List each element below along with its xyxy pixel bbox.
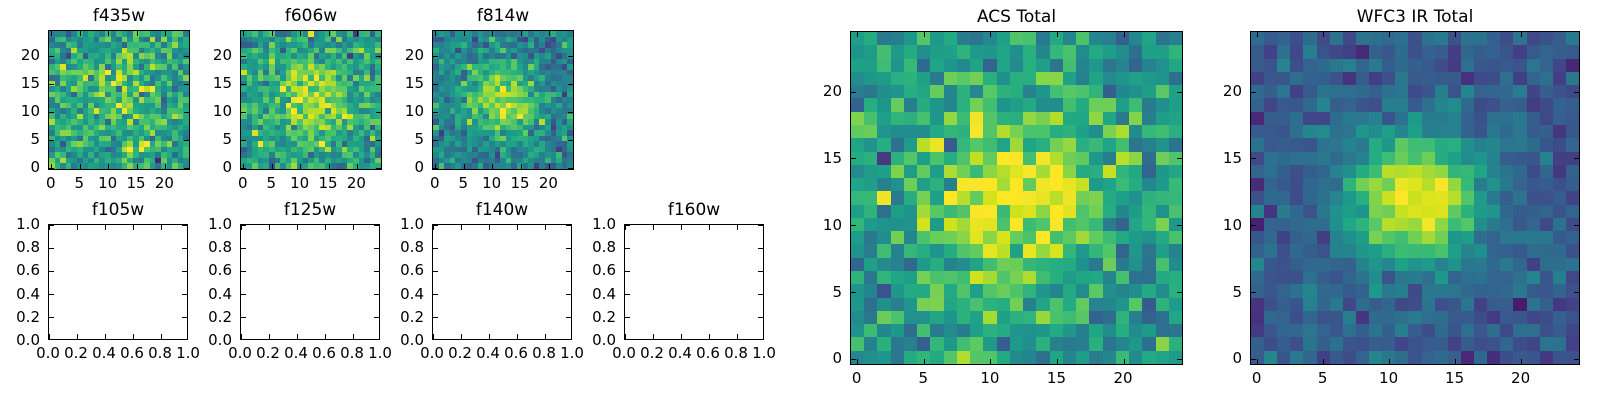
heatmap-cell: [877, 337, 890, 350]
heatmap-cell: [1076, 85, 1089, 98]
heatmap-cell: [1448, 298, 1461, 311]
heatmap-cell: [1500, 244, 1513, 257]
heatmap-cell: [997, 311, 1010, 324]
heatmap-cell: [1527, 311, 1540, 324]
heatmap-cell: [944, 351, 957, 364]
heatmap-cell: [864, 205, 877, 218]
heatmap-cell: [891, 72, 904, 85]
y-tick-label: 5: [30, 130, 40, 148]
axes-f125w[interactable]: [240, 224, 380, 340]
heatmap-cell: [1382, 165, 1395, 178]
heatmap-cell: [1050, 337, 1063, 350]
heatmap-cell: [1422, 178, 1435, 191]
heatmap-cell: [1251, 284, 1264, 297]
heatmap-cell: [1142, 298, 1155, 311]
heatmap-cell: [1063, 244, 1076, 257]
heatmap-cell: [1330, 337, 1343, 350]
heatmap-cell: [1461, 284, 1474, 297]
heatmap-cell: [1290, 191, 1303, 204]
heatmap-cell: [1169, 284, 1182, 297]
heatmap-cell: [1290, 205, 1303, 218]
heatmap-cell: [1277, 351, 1290, 364]
axes-wfc3-ir-total[interactable]: [1250, 31, 1580, 365]
heatmap-cell: [864, 284, 877, 297]
heatmap-cell: [1435, 258, 1448, 271]
heatmap-cell: [1395, 218, 1408, 231]
heatmap-cell: [1500, 138, 1513, 151]
heatmap-cell: [1500, 98, 1513, 111]
axes-acs-total[interactable]: [850, 31, 1183, 365]
heatmap-cell: [1063, 152, 1076, 165]
heatmap-cell: [1356, 152, 1369, 165]
x-tick-label: 0.4: [284, 344, 308, 362]
heatmap-cell: [1435, 351, 1448, 364]
heatmap-cell: [1382, 191, 1395, 204]
heatmap-cell: [1129, 138, 1142, 151]
heatmap-cell: [917, 324, 930, 337]
heatmap-cell: [1169, 138, 1182, 151]
heatmap-cell: [1422, 72, 1435, 85]
heatmap-cell: [1435, 324, 1448, 337]
y-tick: [625, 317, 630, 318]
heatmap-cell: [1461, 152, 1474, 165]
heatmap-cell: [1435, 271, 1448, 284]
heatmap-cell: [917, 284, 930, 297]
heatmap-cell: [1036, 152, 1049, 165]
heatmap-cell: [1343, 112, 1356, 125]
axes-f435w[interactable]: [48, 30, 190, 170]
heatmap-cell: [1356, 351, 1369, 364]
heatmap-cell: [1553, 205, 1566, 218]
y-tick: [851, 225, 856, 226]
heatmap-cell: [983, 178, 996, 191]
heatmap-cell: [877, 324, 890, 337]
heatmap-cell: [1395, 271, 1408, 284]
heatmap-cell: [917, 85, 930, 98]
heatmap-cell: [1023, 85, 1036, 98]
heatmap-cell: [1036, 205, 1049, 218]
x-tick: [545, 225, 546, 230]
heatmap-cell: [1050, 45, 1063, 58]
heatmap-cell: [1089, 138, 1102, 151]
heatmap-cell: [1050, 324, 1063, 337]
heatmap-cell: [930, 311, 943, 324]
heatmap-cell: [1277, 231, 1290, 244]
y-tick-label: 1.0: [400, 215, 424, 233]
heatmap-cell: [864, 85, 877, 98]
heatmap-cell: [983, 311, 996, 324]
y-tick: [625, 294, 630, 295]
heatmap-cell: [917, 258, 930, 271]
heatmap-cell: [1422, 59, 1435, 72]
heatmap-cell: [917, 205, 930, 218]
heatmap-cell: [1461, 112, 1474, 125]
x-tick: [80, 164, 81, 169]
heatmap-cell: [1422, 32, 1435, 45]
heatmap-cell: [1422, 152, 1435, 165]
heatmap-cell: [1023, 98, 1036, 111]
heatmap-cell: [1395, 311, 1408, 324]
heatmap-cell: [1023, 324, 1036, 337]
heatmap-cell: [1356, 298, 1369, 311]
y-tick: [182, 225, 187, 226]
heatmap-cell: [1382, 138, 1395, 151]
heatmap-cell: [944, 298, 957, 311]
heatmap-cell: [851, 98, 864, 111]
x-tick: [300, 31, 301, 36]
heatmap-cell: [944, 59, 957, 72]
heatmap-cell: [1461, 178, 1474, 191]
heatmap-cell: [997, 218, 1010, 231]
heatmap-cell: [1023, 32, 1036, 45]
heatmap-cell: [1050, 165, 1063, 178]
x-tick: [1057, 32, 1058, 37]
y-tick: [625, 248, 630, 249]
heatmap-cell: [1330, 298, 1343, 311]
x-tick-label: 0.6: [120, 344, 144, 362]
heatmap-cell: [877, 178, 890, 191]
panel-title-acs-total: ACS Total: [850, 7, 1183, 27]
heatmap-cell: [1395, 85, 1408, 98]
axes-f105w[interactable]: [48, 224, 188, 340]
heatmap-cell: [1251, 337, 1264, 350]
heatmap-cell: [1089, 351, 1102, 364]
heatmap-cell: [1540, 165, 1553, 178]
heatmap-cell: [1474, 337, 1487, 350]
heatmap-cell: [1343, 178, 1356, 191]
heatmap-cell: [1050, 138, 1063, 151]
heatmap-cell: [1343, 284, 1356, 297]
heatmap-cell: [1023, 59, 1036, 72]
x-tick: [137, 31, 138, 36]
heatmap-cell: [1474, 45, 1487, 58]
heatmap-cell: [970, 244, 983, 257]
heatmap-cell: [970, 231, 983, 244]
heatmap-cell: [1448, 72, 1461, 85]
heatmap-cell: [983, 72, 996, 85]
y-tick: [566, 248, 571, 249]
heatmap-cell: [1063, 85, 1076, 98]
y-tick-label: 0: [30, 158, 40, 176]
heatmap-cell: [1103, 32, 1116, 45]
heatmap-cell: [1169, 45, 1182, 58]
y-tick: [758, 294, 763, 295]
heatmap-cell: [1474, 138, 1487, 151]
heatmap-cell: [1317, 231, 1330, 244]
heatmap-cell: [1448, 231, 1461, 244]
y-tick: [433, 84, 438, 85]
heatmap-cell: [1343, 98, 1356, 111]
heatmap-cell: [1422, 85, 1435, 98]
heatmap-cell: [1500, 125, 1513, 138]
heatmap-cell: [997, 72, 1010, 85]
x-tick-label: 0: [238, 174, 248, 192]
y-tick: [49, 248, 54, 249]
heatmap-cell: [1553, 337, 1566, 350]
heatmap-cell: [1356, 258, 1369, 271]
heatmap-cell: [1474, 98, 1487, 111]
heatmap-cell: [1422, 205, 1435, 218]
heatmap-cell: [1422, 125, 1435, 138]
heatmap-cell: [1474, 59, 1487, 72]
heatmap-cell: [944, 324, 957, 337]
heatmap-cell: [1036, 112, 1049, 125]
heatmap-cell: [1303, 85, 1316, 98]
y-tick: [182, 317, 187, 318]
heatmap-cell: [1422, 311, 1435, 324]
heatmap-cell: [1448, 165, 1461, 178]
heatmap-cell: [917, 45, 930, 58]
heatmap-cell: [1422, 45, 1435, 58]
heatmap-cell: [1290, 138, 1303, 151]
x-tick-label: 10: [290, 174, 309, 192]
heatmap-cell: [851, 271, 864, 284]
heatmap-cell: [1129, 244, 1142, 257]
x-tick-label: 1.0: [560, 344, 584, 362]
heatmap-cell: [1089, 32, 1102, 45]
heatmap-cell: [904, 258, 917, 271]
heatmap-cell: [1129, 85, 1142, 98]
x-tick-label: 10: [482, 174, 501, 192]
heatmap-cell: [1487, 32, 1500, 45]
y-tick-label: 0.8: [16, 238, 40, 256]
heatmap-cell: [1487, 271, 1500, 284]
heatmap-cell: [1169, 165, 1182, 178]
x-tick: [737, 334, 738, 339]
heatmap-cell: [1023, 218, 1036, 231]
heatmap-cell: [1303, 72, 1316, 85]
heatmap-cell: [1023, 125, 1036, 138]
heatmap-cell: [1303, 311, 1316, 324]
heatmap-cell: [1290, 218, 1303, 231]
heatmap-cell: [970, 218, 983, 231]
heatmap-cell: [930, 271, 943, 284]
heatmap-cell: [1303, 258, 1316, 271]
heatmap-cell: [1448, 45, 1461, 58]
y-tick: [566, 317, 571, 318]
heatmap-cell: [1142, 244, 1155, 257]
heatmap-cell: [1527, 138, 1540, 151]
heatmap-cell: [1540, 152, 1553, 165]
heatmap-cell: [1089, 298, 1102, 311]
heatmap-cell: [970, 178, 983, 191]
heatmap-cell: [1303, 271, 1316, 284]
heatmap-cell: [1369, 72, 1382, 85]
heatmap-cell: [983, 218, 996, 231]
heatmap-cell: [1023, 351, 1036, 364]
heatmap-cell: [1435, 59, 1448, 72]
heatmap-cell: [1553, 112, 1566, 125]
y-tick-label: 1.0: [208, 215, 232, 233]
axes-f814w[interactable]: [432, 30, 574, 170]
heatmap-cell: [1036, 258, 1049, 271]
heatmap-cell: [1435, 311, 1448, 324]
heatmap-cell: [1422, 351, 1435, 364]
heatmap-cell: [1290, 165, 1303, 178]
heatmap-cell: [1290, 178, 1303, 191]
heatmap-cell: [1461, 271, 1474, 284]
heatmap-cell: [851, 298, 864, 311]
heatmap-cell: [917, 271, 930, 284]
heatmap-cell: [1264, 98, 1277, 111]
heatmap-cell: [1448, 112, 1461, 125]
heatmap-cell: [1369, 152, 1382, 165]
heatmap-cell: [1540, 244, 1553, 257]
heatmap-cell: [1395, 32, 1408, 45]
heatmap-cell: [1023, 112, 1036, 125]
heatmap-cell: [1527, 231, 1540, 244]
heatmap-cell: [1500, 45, 1513, 58]
heatmap-cell: [1089, 112, 1102, 125]
heatmap-cell: [1382, 311, 1395, 324]
heatmap-cell: [1500, 231, 1513, 244]
heatmap-cell: [1435, 218, 1448, 231]
heatmap-cell: [1513, 284, 1526, 297]
y-tick: [241, 140, 246, 141]
x-tick: [1455, 359, 1456, 364]
y-tick-label: 0: [414, 158, 424, 176]
heatmap-cell: [1461, 244, 1474, 257]
heatmap-cell: [1116, 138, 1129, 151]
heatmap-cell: [1063, 231, 1076, 244]
x-tick: [161, 225, 162, 230]
panel-f125w: f125w: [240, 224, 380, 340]
heatmap-cell: [1369, 351, 1382, 364]
y-tick-label: 15: [405, 74, 424, 92]
heatmap-cell: [1461, 231, 1474, 244]
heatmap-cell: [1382, 231, 1395, 244]
heatmap-cell: [891, 298, 904, 311]
heatmap-cell: [1063, 271, 1076, 284]
heatmap-grid: [851, 32, 1182, 364]
axes-f160w[interactable]: [624, 224, 764, 340]
heatmap-cell: [1369, 45, 1382, 58]
heatmap-cell: [1251, 45, 1264, 58]
heatmap-cell: [1382, 324, 1395, 337]
heatmap-cell: [983, 284, 996, 297]
y-tick: [568, 84, 573, 85]
heatmap-cell: [1435, 85, 1448, 98]
heatmap-cell: [1513, 45, 1526, 58]
x-tick-label: 0.2: [640, 344, 664, 362]
heatmap-cell: [1343, 298, 1356, 311]
y-tick-label: 20: [213, 46, 232, 64]
x-tick: [857, 32, 858, 37]
heatmap-cell: [930, 324, 943, 337]
heatmap-cell: [1290, 85, 1303, 98]
heatmap-cell: [1169, 205, 1182, 218]
x-tick: [549, 31, 550, 36]
heatmap-cell: [1527, 284, 1540, 297]
heatmap-cell: [1142, 205, 1155, 218]
heatmap-cell: [1103, 258, 1116, 271]
heatmap-cell: [1356, 98, 1369, 111]
heatmap-cell: [957, 231, 970, 244]
heatmap-cell: [1356, 271, 1369, 284]
heatmap-cell: [1553, 32, 1566, 45]
y-tick-label: 10: [823, 216, 842, 234]
heatmap-cell: [1089, 244, 1102, 257]
heatmap-cell: [1487, 218, 1500, 231]
heatmap-cell: [930, 138, 943, 151]
y-tick: [241, 225, 246, 226]
axes-f606w[interactable]: [240, 30, 382, 170]
heatmap-cell: [1527, 165, 1540, 178]
heatmap-cell: [1116, 59, 1129, 72]
y-tick: [184, 140, 189, 141]
heatmap-cell: [1103, 337, 1116, 350]
heatmap-cell: [917, 98, 930, 111]
heatmap-cell: [1448, 218, 1461, 231]
heatmap-cell: [1513, 178, 1526, 191]
heatmap-cell: [1435, 152, 1448, 165]
heatmap-cell: [1089, 72, 1102, 85]
heatmap-cell: [1408, 351, 1421, 364]
heatmap-cell: [1076, 218, 1089, 231]
heatmap-cell: [1063, 351, 1076, 364]
heatmap-cell: [1317, 112, 1330, 125]
y-tick: [49, 168, 54, 169]
heatmap-cell: [1500, 85, 1513, 98]
heatmap-cell: [1487, 258, 1500, 271]
x-tick: [492, 164, 493, 169]
y-tick: [851, 92, 856, 93]
y-tick: [374, 294, 379, 295]
heatmap-cell: [917, 231, 930, 244]
x-tick: [433, 225, 434, 230]
heatmap-cell: [1474, 311, 1487, 324]
heatmap-cell: [1356, 125, 1369, 138]
heatmap-cell: [1527, 178, 1540, 191]
x-tick-label: 0: [852, 369, 862, 387]
heatmap-cell: [1076, 152, 1089, 165]
heatmap-cell: [904, 271, 917, 284]
heatmap-cell: [1448, 125, 1461, 138]
y-tick: [758, 248, 763, 249]
panel-f814w: f814w: [432, 30, 574, 170]
heatmap-cell: [904, 45, 917, 58]
heatmap-cell: [1553, 284, 1566, 297]
heatmap-cell: [891, 231, 904, 244]
heatmap-cell: [1050, 112, 1063, 125]
heatmap-cell: [1277, 72, 1290, 85]
heatmap-cell: [851, 191, 864, 204]
heatmap-cell: [1277, 298, 1290, 311]
heatmap-cell: [1317, 298, 1330, 311]
heatmap-cell: [1317, 59, 1330, 72]
y-tick-label: 15: [213, 74, 232, 92]
heatmap-cell: [1527, 32, 1540, 45]
heatmap-cell: [1023, 178, 1036, 191]
axes-f140w[interactable]: [432, 224, 572, 340]
heatmap-cell: [877, 85, 890, 98]
heatmap-cell: [904, 284, 917, 297]
heatmap-cell: [864, 59, 877, 72]
heatmap-cell: [1513, 337, 1526, 350]
heatmap-cell: [1076, 244, 1089, 257]
heatmap-cell: [1356, 205, 1369, 218]
heatmap-cell: [970, 337, 983, 350]
heatmap-cell: [944, 152, 957, 165]
heatmap-cell: [1369, 231, 1382, 244]
heatmap-cell: [997, 59, 1010, 72]
heatmap-cell: [997, 98, 1010, 111]
heatmap-cell: [1076, 324, 1089, 337]
heatmap-cell: [891, 284, 904, 297]
x-tick: [990, 359, 991, 364]
x-tick: [80, 31, 81, 36]
heatmap-cell: [1343, 271, 1356, 284]
